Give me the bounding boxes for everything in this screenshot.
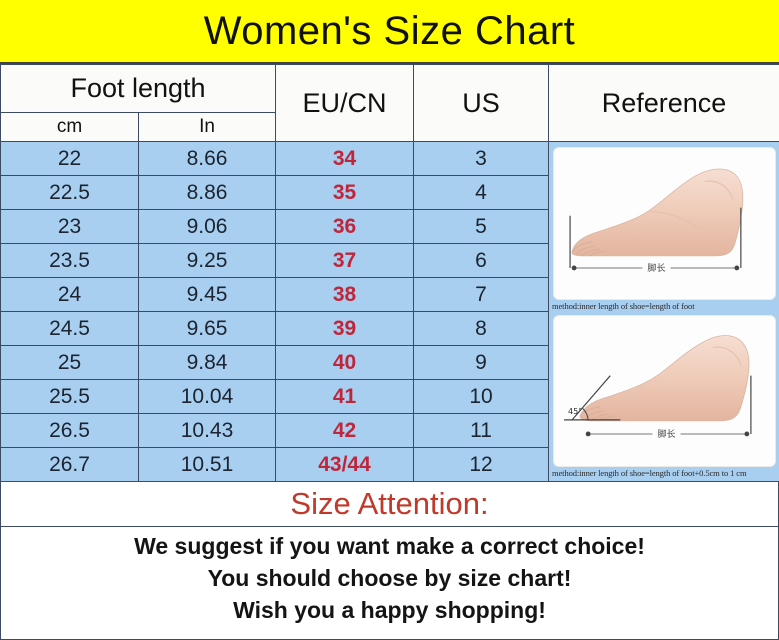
reference-diagram-2: 45° 脚长 bbox=[549, 312, 779, 480]
cell-in: 9.45 bbox=[139, 278, 276, 312]
cell-cm: 23 bbox=[1, 210, 139, 244]
foot-side-view-icon: 脚长 bbox=[553, 147, 776, 300]
table-body: 22 8.66 34 3 bbox=[1, 142, 779, 482]
cell-eu: 37 bbox=[276, 244, 414, 278]
cell-us: 11 bbox=[414, 414, 549, 448]
note-line: Wish you a happy shopping! bbox=[233, 598, 546, 624]
cell-eu: 41 bbox=[276, 380, 414, 414]
cell-cm: 25.5 bbox=[1, 380, 139, 414]
table-row: 22 8.66 34 3 bbox=[1, 142, 779, 176]
reference-caption-1: method:inner length of shoe=length of fo… bbox=[549, 300, 779, 312]
cell-eu: 38 bbox=[276, 278, 414, 312]
cell-in: 8.66 bbox=[139, 142, 276, 176]
cell-eu: 36 bbox=[276, 210, 414, 244]
cell-us: 6 bbox=[414, 244, 549, 278]
reference-caption-2: method:inner length of shoe=length of fo… bbox=[549, 467, 779, 479]
note-line: You should choose by size chart! bbox=[208, 566, 572, 592]
note-line: We suggest if you want make a correct ch… bbox=[134, 534, 645, 560]
header-eu-cn: EU/CN bbox=[276, 65, 414, 142]
cell-eu: 35 bbox=[276, 176, 414, 210]
header-foot-length: Foot length bbox=[1, 65, 276, 113]
cell-in: 9.84 bbox=[139, 346, 276, 380]
cell-us: 8 bbox=[414, 312, 549, 346]
svg-text:脚长: 脚长 bbox=[657, 427, 675, 439]
cell-us: 7 bbox=[414, 278, 549, 312]
cell-cm: 26.7 bbox=[1, 448, 139, 482]
cell-us: 4 bbox=[414, 176, 549, 210]
reference-stack: 脚长 method:inner length of shoe=length of… bbox=[549, 144, 779, 479]
svg-text:45°: 45° bbox=[568, 406, 582, 415]
note-lines: We suggest if you want make a correct ch… bbox=[1, 527, 778, 639]
cell-eu: 34 bbox=[276, 142, 414, 176]
header-reference: Reference bbox=[549, 65, 779, 142]
cell-in: 9.06 bbox=[139, 210, 276, 244]
reference-column: 脚长 method:inner length of shoe=length of… bbox=[549, 142, 779, 482]
cell-cm: 25 bbox=[1, 346, 139, 380]
cell-us: 12 bbox=[414, 448, 549, 482]
cell-us: 10 bbox=[414, 380, 549, 414]
cell-in: 10.43 bbox=[139, 414, 276, 448]
page-title: Women's Size Chart bbox=[204, 11, 576, 51]
cell-cm: 22.5 bbox=[1, 176, 139, 210]
cell-eu: 42 bbox=[276, 414, 414, 448]
reference-diagram-1: 脚长 method:inner length of shoe=length of… bbox=[549, 144, 779, 312]
cell-us: 3 bbox=[414, 142, 549, 176]
cell-in: 9.65 bbox=[139, 312, 276, 346]
cell-cm: 24.5 bbox=[1, 312, 139, 346]
cell-eu: 43/44 bbox=[276, 448, 414, 482]
attention-heading: Size Attention: bbox=[290, 486, 488, 522]
cell-eu: 39 bbox=[276, 312, 414, 346]
header-us: US bbox=[414, 65, 549, 142]
cell-eu: 40 bbox=[276, 346, 414, 380]
foot-angle-view-icon: 45° 脚长 bbox=[553, 315, 776, 468]
attention-row: Size Attention: bbox=[1, 482, 778, 527]
header-row-group: Foot length EU/CN US Reference bbox=[1, 65, 779, 113]
cell-cm: 23.5 bbox=[1, 244, 139, 278]
cell-in: 9.25 bbox=[139, 244, 276, 278]
cell-cm: 22 bbox=[1, 142, 139, 176]
size-chart-sheet: Women's Size Chart Foot length EU/CN US … bbox=[0, 0, 779, 640]
table-header: Foot length EU/CN US Reference cm In bbox=[1, 65, 779, 142]
header-in: In bbox=[139, 113, 276, 142]
cell-us: 5 bbox=[414, 210, 549, 244]
header-cm: cm bbox=[1, 113, 139, 142]
svg-text:脚长: 脚长 bbox=[647, 262, 665, 274]
cell-in: 8.86 bbox=[139, 176, 276, 210]
cell-cm: 24 bbox=[1, 278, 139, 312]
cell-in: 10.51 bbox=[139, 448, 276, 482]
title-banner: Women's Size Chart bbox=[0, 0, 779, 64]
size-attention-section: Size Attention: We suggest if you want m… bbox=[0, 482, 779, 640]
size-chart-table: Foot length EU/CN US Reference cm In 22 … bbox=[0, 64, 779, 482]
cell-us: 9 bbox=[414, 346, 549, 380]
cell-cm: 26.5 bbox=[1, 414, 139, 448]
cell-in: 10.04 bbox=[139, 380, 276, 414]
